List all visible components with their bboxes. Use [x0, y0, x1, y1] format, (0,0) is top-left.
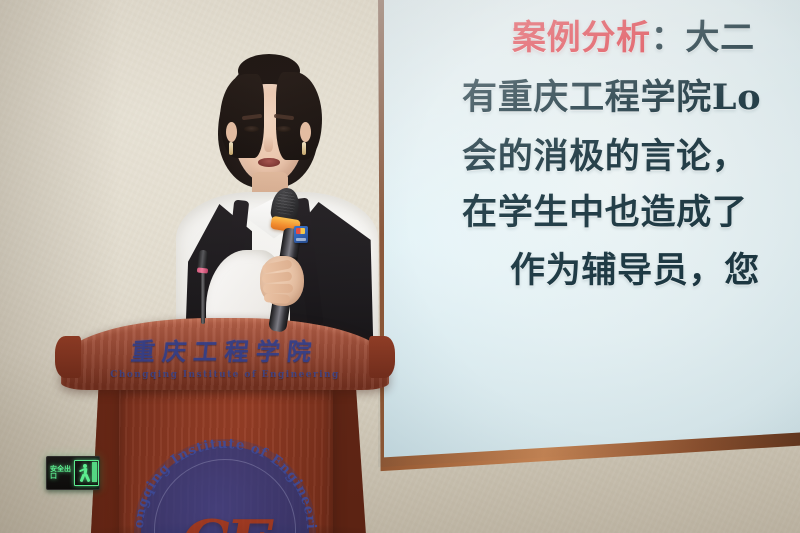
finger: [264, 293, 291, 304]
exit-door-icon: [92, 462, 97, 482]
projection-screen: 案例分析：大二 有重庆工程学院Lo 会的消极的言论， 在学生中也造成了 作为辅导…: [378, 0, 800, 474]
university-name-cn: 重庆工程学院: [53, 332, 397, 367]
gooseneck-microphone: [196, 252, 210, 324]
ear-right: [300, 122, 311, 142]
finger: [263, 284, 293, 294]
speaker-figure: [150, 60, 400, 360]
slide-line-2: 有重庆工程学院Lo: [462, 69, 761, 120]
photo-scene: 案例分析：大二 有重庆工程学院Lo 会的消极的言论， 在学生中也造成了 作为辅导…: [0, 0, 800, 533]
lectern-branding: 重庆工程学院 Chongqing Institute of Engineerin…: [55, 332, 395, 380]
slide-line-5: 作为辅导员，您: [510, 242, 760, 293]
nose: [264, 136, 273, 152]
lectern: CE Chongqing Institute of Engineering 重庆…: [55, 318, 395, 533]
eye-right: [276, 126, 291, 132]
exit-pictogram-icon: [74, 460, 100, 486]
slide-line-3: 会的消极的言论，: [462, 128, 748, 179]
eye-left: [244, 126, 259, 132]
ear-left: [226, 122, 237, 142]
earring-left: [229, 142, 233, 155]
running-person-icon: [79, 464, 92, 482]
exit-sign-label: 安全出口: [47, 466, 74, 481]
lapel-badge: [294, 226, 308, 243]
mouth: [258, 158, 280, 167]
gooseneck-band: [197, 267, 208, 273]
emblem-monogram: CE: [174, 507, 276, 533]
lectern-side-right: [331, 384, 371, 533]
slide-line-1: 案例分析：大二: [512, 10, 755, 59]
slide-heading-rest: ：大二: [651, 18, 755, 58]
earring-right: [302, 142, 306, 155]
emergency-exit-sign: 安全出口: [46, 456, 100, 490]
slide-line-4: 在学生中也造成了: [462, 184, 748, 235]
slide-content: 案例分析：大二 有重庆工程学院Lo 会的消极的言论， 在学生中也造成了 作为辅导…: [384, 0, 800, 464]
slide-heading-emphasis: 案例分析: [512, 18, 651, 58]
university-name-en: Chongqing Institute of Engineering: [55, 370, 395, 380]
